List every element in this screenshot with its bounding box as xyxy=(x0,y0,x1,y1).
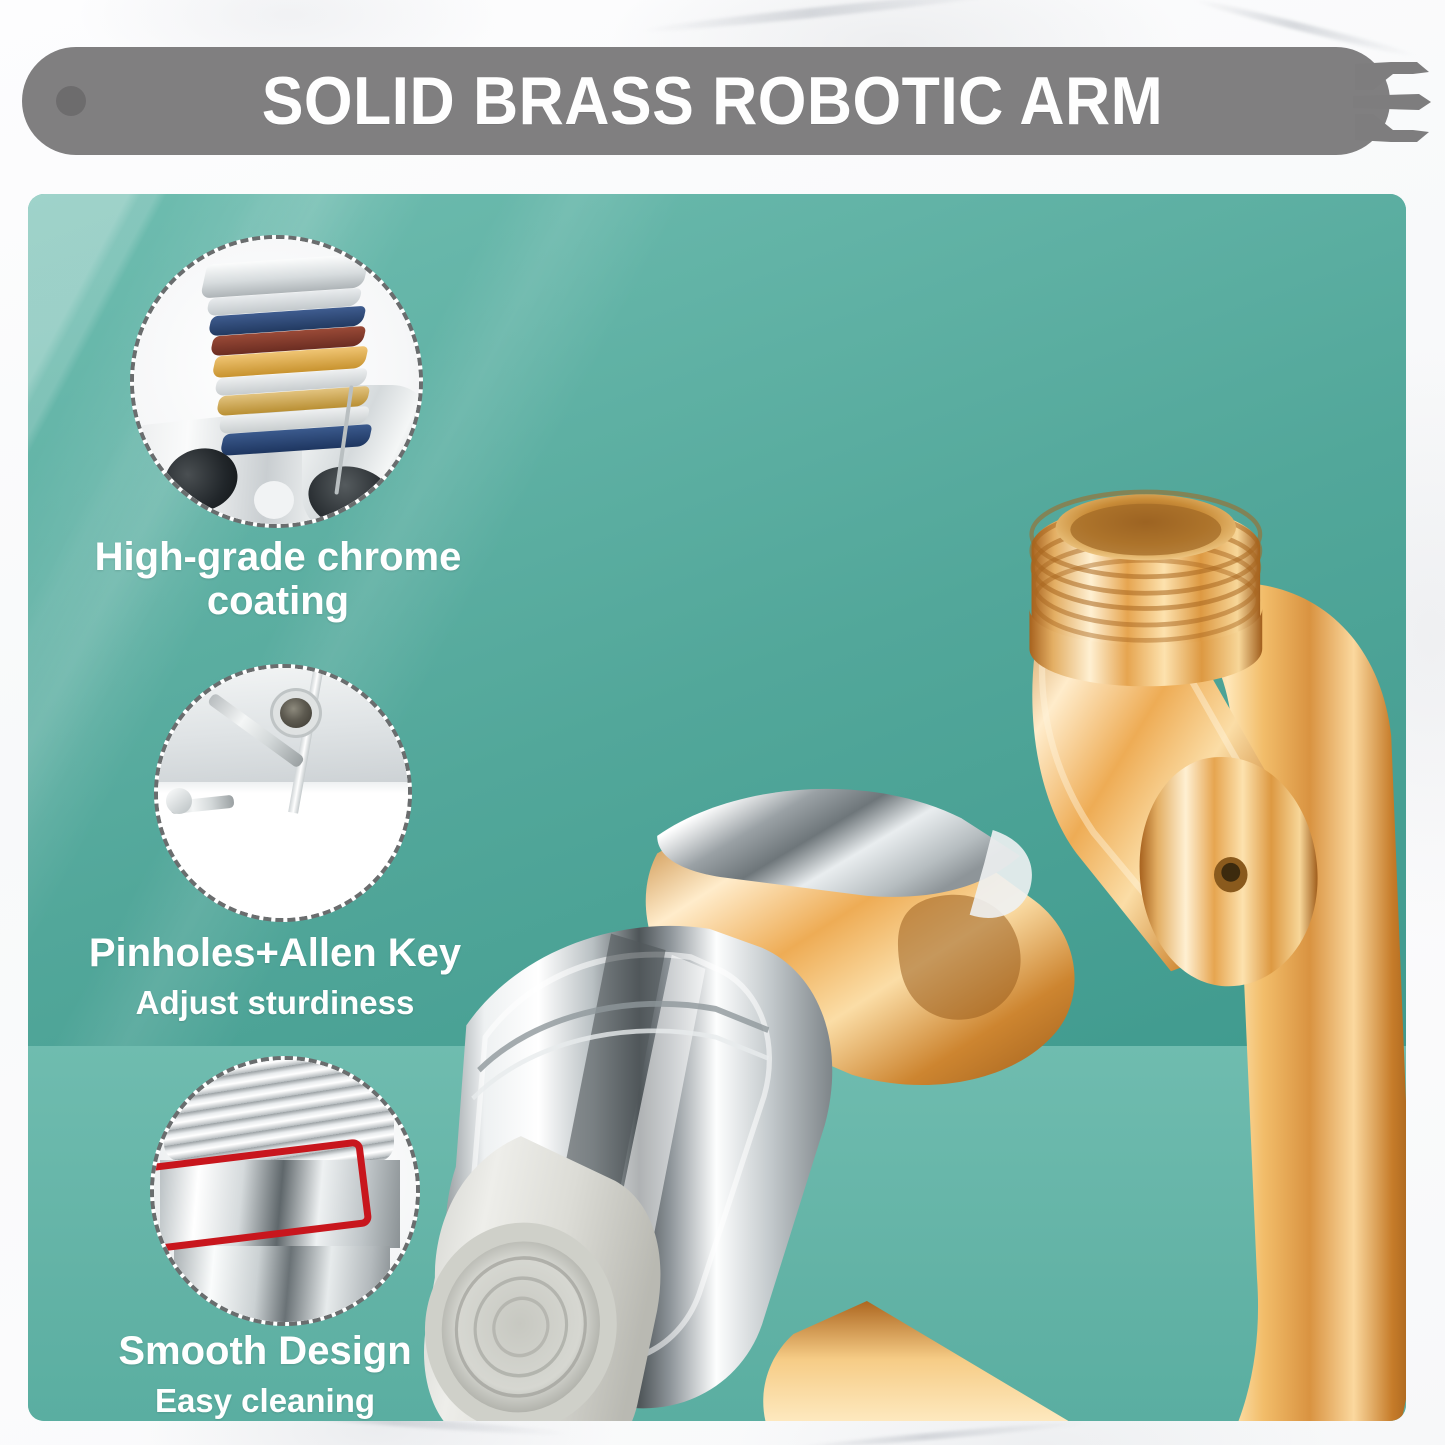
feature-pinholes-title: Pinholes+Allen Key xyxy=(40,932,510,975)
marble-vein xyxy=(790,1419,1089,1445)
marble-vein xyxy=(641,0,1020,36)
product-photo-panel: High-grade chrome coating Pinholes+Allen… xyxy=(28,194,1406,1421)
wrench-gripper-icon xyxy=(1333,48,1443,156)
smooth-design-photo xyxy=(150,1056,420,1326)
pinhole-icon xyxy=(280,698,312,728)
feature-smooth-design-title: Smooth Design xyxy=(40,1330,490,1373)
feature-smooth-design-subtitle: Easy cleaning xyxy=(40,1382,490,1420)
feature-chrome-coating-title: High-grade chrome xyxy=(48,536,508,579)
title-banner: SOLID BRASS ROBOTIC ARM xyxy=(22,47,1390,155)
feature-pinholes-subtitle: Adjust sturdiness xyxy=(40,984,510,1022)
chrome-coating-photo xyxy=(130,235,423,528)
page-title: SOLID BRASS ROBOTIC ARM xyxy=(77,67,1336,135)
feature-chrome-coating-title-line2: coating xyxy=(48,580,508,623)
allen-key-photo xyxy=(154,664,412,922)
